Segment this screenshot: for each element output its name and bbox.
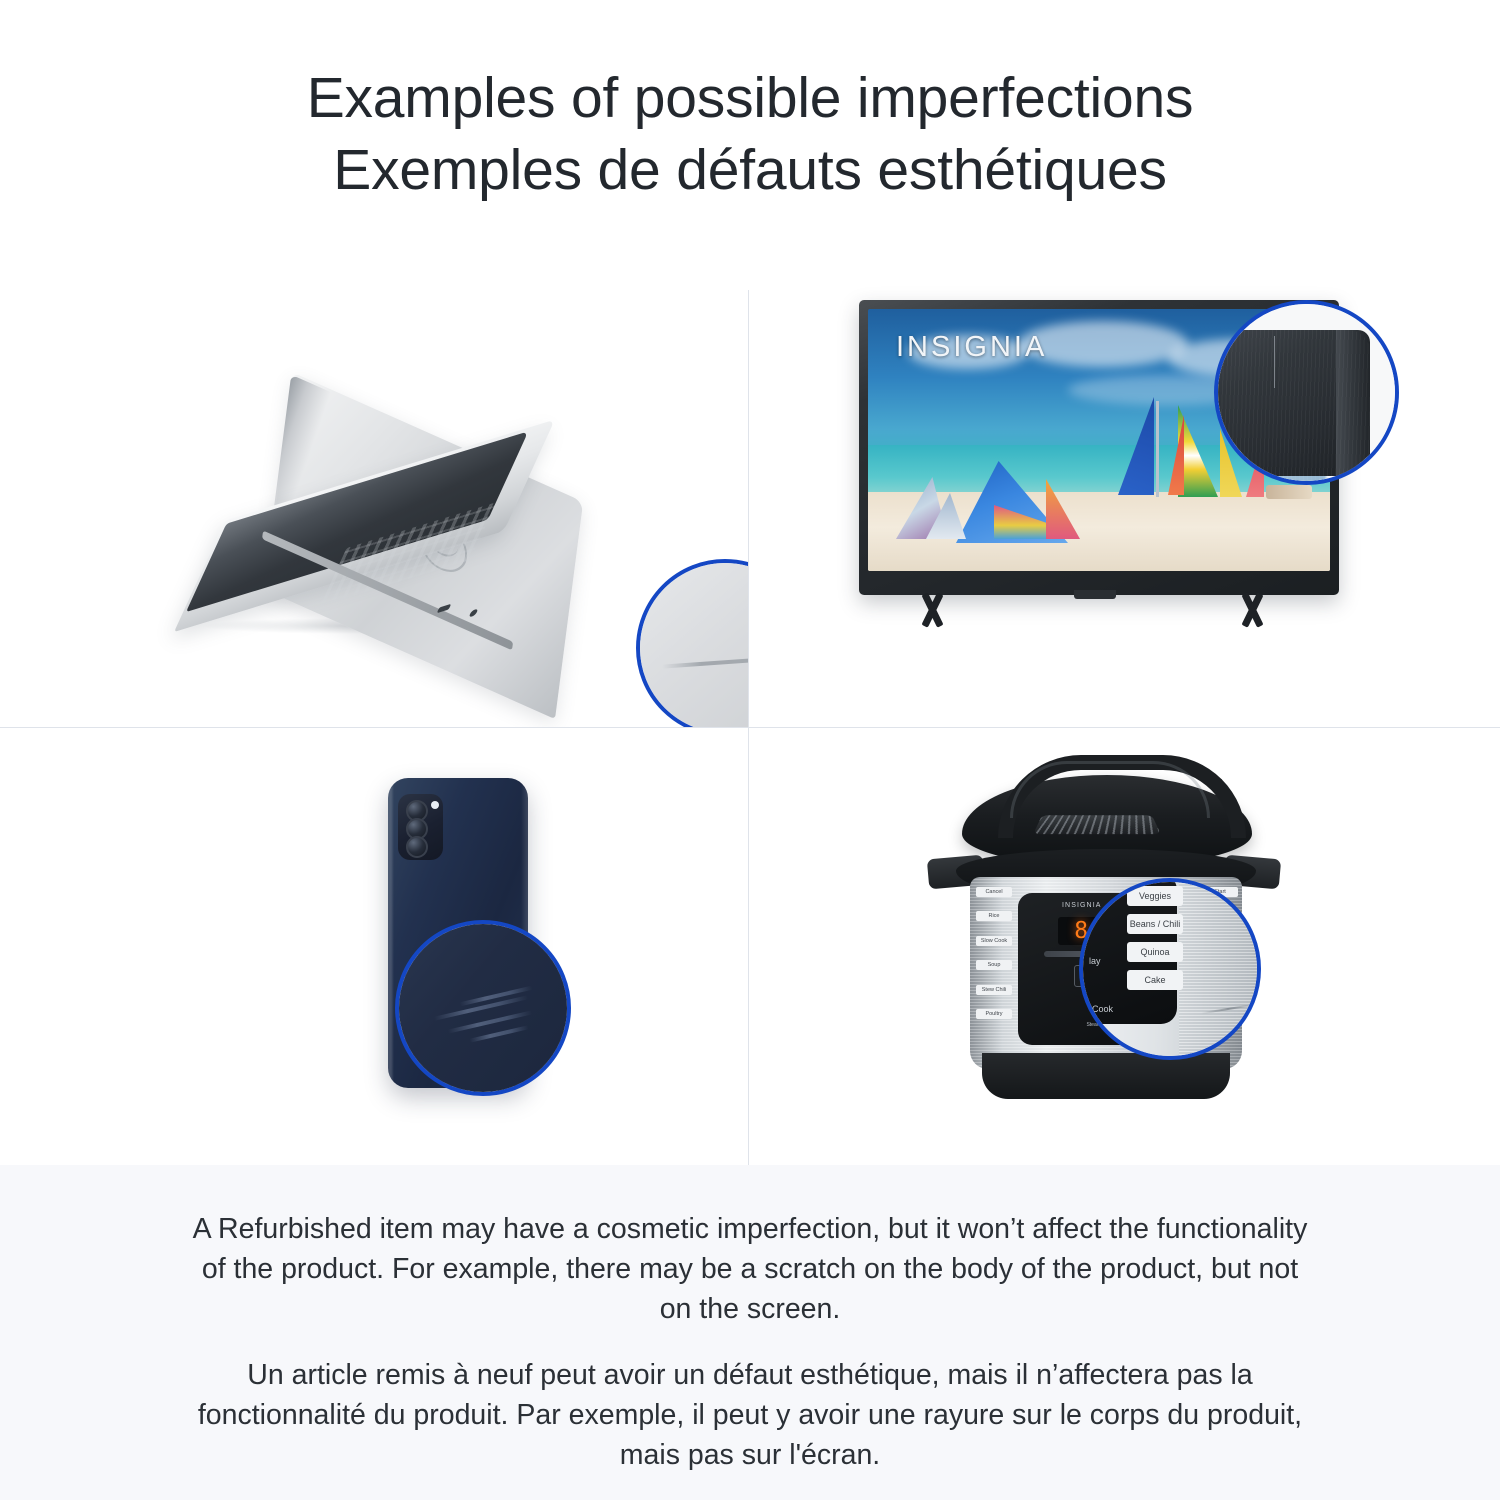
cooker-zoom-brushed-steel [1179, 882, 1261, 1060]
magnifier-phone-scratches [395, 920, 571, 1096]
phone-scratch-mark [469, 1025, 528, 1042]
magnifier-laptop-surface [640, 563, 748, 727]
cooker-zoom-button: Quinoa [1127, 942, 1183, 962]
footer-note-fr: Un article remis à neuf peut avoir un dé… [185, 1355, 1315, 1475]
cooker-button[interactable]: Soup [976, 960, 1012, 970]
panel-television: INSIGNIA [749, 265, 1500, 727]
tv-sensor-nub [1074, 590, 1116, 599]
header: Examples of possible imperfections Exemp… [0, 0, 1500, 265]
cooker-left-button-column[interactable]: Cancel Rice Slow Cook Soup Stew Chili Po… [976, 887, 1012, 1019]
page-title-fr: Exemples de défauts esthétiques [333, 134, 1167, 206]
cooker-button[interactable]: Stew Chili [976, 985, 1012, 995]
laptop-image [170, 360, 570, 650]
tv-brand-label: INSIGNIA [896, 331, 1047, 364]
page-title-en: Examples of possible imperfections [307, 62, 1194, 134]
phone-camera-lens [406, 836, 428, 858]
magnifier-cooker-surface: Veggies Beans / Chili Quinoa Cake lay w … [1083, 882, 1257, 1056]
cooker-lid-vent [1033, 815, 1161, 834]
smartphone-image [290, 778, 590, 1118]
magnifier-tv-scratch [1214, 300, 1399, 485]
cooker-button[interactable]: Poultry [976, 1009, 1012, 1019]
cooker-button[interactable]: Rice [976, 911, 1012, 921]
magnifier-tv-surface [1218, 304, 1395, 481]
footer-note-section: A Refurbished item may have a cosmetic i… [0, 1165, 1500, 1500]
tv-zoom-grain [1214, 330, 1370, 480]
magnifier-cooker-scratch: Veggies Beans / Chili Quinoa Cake lay w … [1079, 878, 1261, 1060]
cooker-lid-vent-grill [1033, 815, 1161, 834]
panel-laptop [0, 265, 748, 727]
television-image: INSIGNIA [859, 300, 1359, 660]
tv-leg-left [899, 592, 961, 628]
phone-camera-module [398, 794, 443, 860]
cooker-button[interactable]: Slow Cook [976, 936, 1012, 946]
cooker-zoom-button-column: Veggies Beans / Chili Quinoa Cake [1127, 878, 1183, 1032]
cooker-zoom-button-dim: w Cook [1083, 1004, 1113, 1014]
tv-boat-hull [1266, 485, 1312, 499]
pressure-cooker-image: INSIGNIA 8:00 Manual Keep Warm Delay Ste… [934, 753, 1314, 1123]
cooker-zoom-button: Veggies [1127, 886, 1183, 906]
refurbished-imperfections-infographic: Examples of possible imperfections Exemp… [0, 0, 1500, 1500]
tv-leg-right [1219, 592, 1281, 628]
cooker-button[interactable]: Cancel [976, 887, 1012, 897]
magnifier-phone-surface [399, 924, 567, 1092]
panel-pressure-cooker: INSIGNIA 8:00 Manual Keep Warm Delay Ste… [749, 728, 1500, 1165]
tv-mast [1156, 401, 1159, 497]
footer-note-en: A Refurbished item may have a cosmetic i… [185, 1209, 1315, 1329]
cooker-zoom-button: Beans / Chili [1127, 914, 1183, 934]
cooker-base [982, 1053, 1230, 1099]
laptop-scratch-mark [662, 655, 748, 668]
magnifier-laptop-scratch [636, 559, 748, 727]
phone-flash-icon [431, 801, 439, 809]
panel-smartphone [0, 728, 748, 1165]
cooker-zoom-button: Cake [1127, 970, 1183, 990]
product-examples-grid: INSIGNIA [0, 265, 1500, 1165]
tv-scratch-mark [1274, 336, 1275, 388]
cooker-zoom-button-dim: lay [1089, 956, 1101, 966]
cooker-handle-highlight [1010, 761, 1210, 818]
